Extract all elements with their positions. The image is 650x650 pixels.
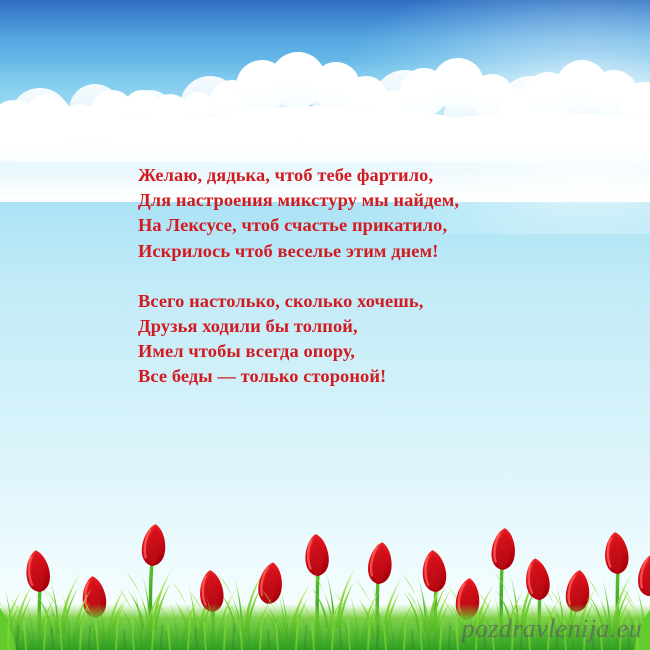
poem-line: На Лексусе, чтоб счастье прикатило, (138, 213, 558, 238)
poem-line: Друзья ходили бы толпой, (138, 314, 558, 339)
poem-text: Желаю, дядька, чтоб тебе фартило, Для на… (138, 163, 558, 390)
poem-stanza-2: Всего настолько, сколько хочешь, Друзья … (138, 289, 558, 390)
greeting-card: Желаю, дядька, чтоб тебе фартило, Для на… (0, 0, 650, 650)
poem-line: Для настроения микстуру мы найдем, (138, 188, 558, 213)
poem-stanza-1: Желаю, дядька, чтоб тебе фартило, Для на… (138, 163, 558, 264)
poem-line: Искрилось чтоб веселье этим днем! (138, 239, 558, 264)
poem-line: Имел чтобы всегда опору, (138, 339, 558, 364)
poem-line: Всего настолько, сколько хочешь, (138, 289, 558, 314)
poem-line: Желаю, дядька, чтоб тебе фартило, (138, 163, 558, 188)
poem-line: Все беды — только стороной! (138, 364, 558, 389)
